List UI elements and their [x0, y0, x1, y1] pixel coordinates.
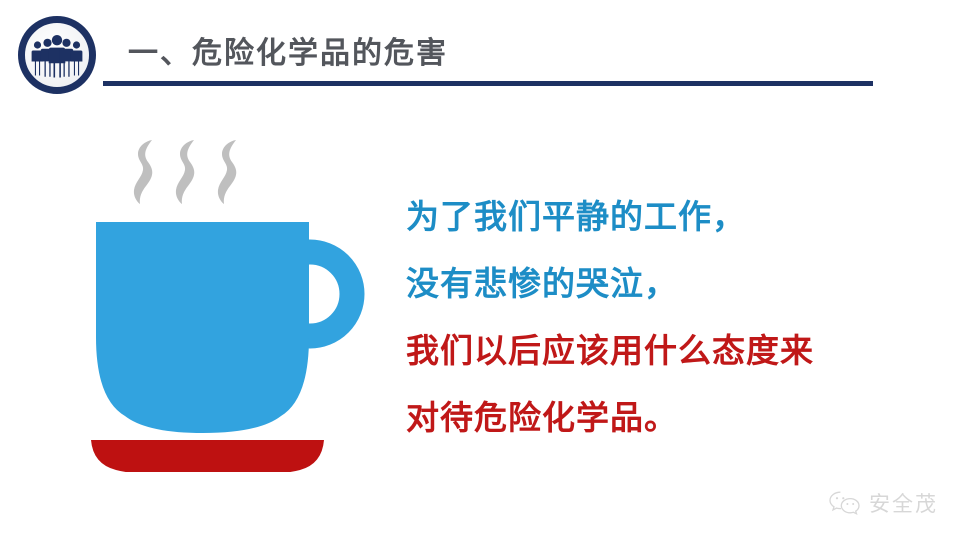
cup-body — [96, 222, 309, 433]
steaming-coffee-cup-icon — [78, 122, 384, 472]
message-block: 为了我们平静的工作， 没有悲惨的哭泣， 我们以后应该用什么态度来 对待危险化学品… — [406, 183, 926, 451]
watermark-label: 安全茂 — [869, 488, 938, 518]
message-line-1: 为了我们平静的工作， — [406, 183, 926, 250]
steam-wisps — [134, 140, 236, 204]
cup-saucer — [91, 440, 324, 472]
header-divider — [103, 81, 873, 86]
people-group-circle-icon — [18, 16, 96, 94]
message-line-2: 没有悲惨的哭泣， — [406, 250, 926, 317]
page-title: 一、危险化学品的危害 — [128, 28, 448, 72]
message-line-4: 对待危险化学品。 — [406, 384, 926, 451]
message-line-3: 我们以后应该用什么态度来 — [406, 317, 926, 384]
people-group-glyph — [31, 34, 83, 78]
slide-canvas: 一、危险化学品的危害 为了我们平静的工作， 没有悲惨的哭泣， 我们以后应该用什么… — [0, 0, 960, 540]
watermark: 安全茂 — [828, 488, 938, 518]
wechat-icon — [828, 490, 862, 516]
